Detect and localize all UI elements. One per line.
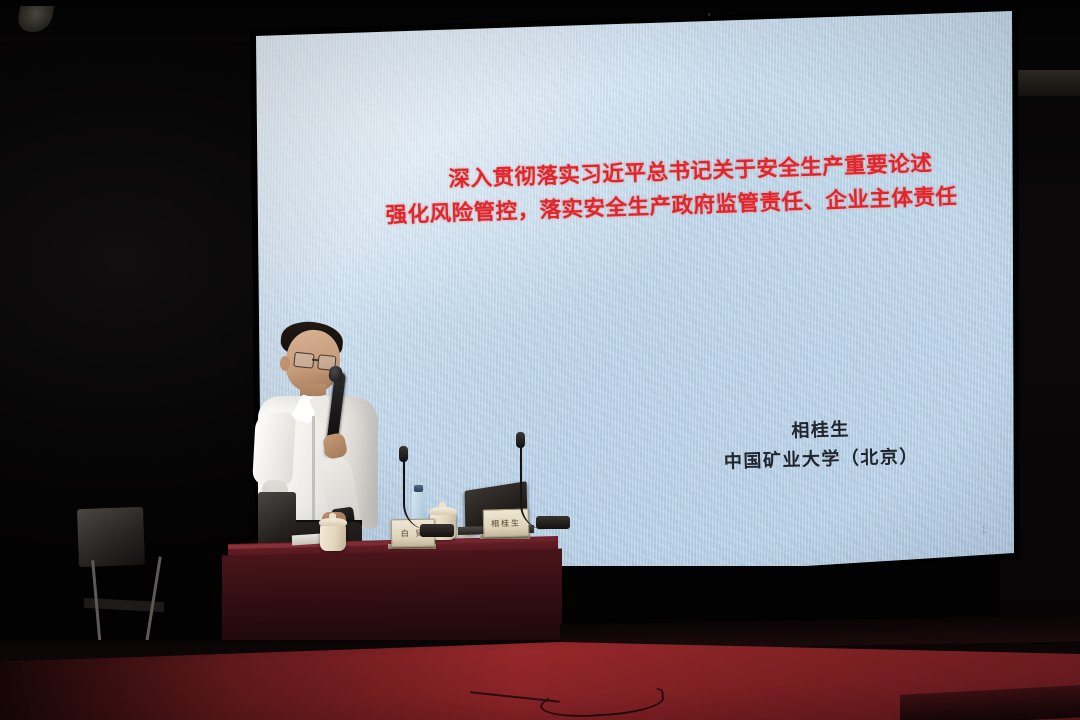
tea-cup-lid [429,507,457,515]
shirt-sleeve-left [252,411,296,487]
photo-scene: 深入贯彻落实习近平总书记关于安全生产重要论述 强化风险管控，落实安全生产政府监管… [0,0,1080,720]
tea-cup-lid [319,518,347,526]
glasses-lens-left [293,352,314,369]
chair-backrest [77,507,145,567]
tea-cup-knob [439,502,446,507]
shirt-placket [312,416,315,524]
speaker-ear [280,356,290,371]
gooseneck-microphone-base [536,516,570,529]
tea-cup [320,524,346,551]
gooseneck-microphone-head [516,432,525,448]
gooseneck-microphone [403,452,431,530]
tea-cup-knob [329,513,336,518]
gooseneck-microphone-head [399,446,408,462]
gooseneck-microphone-base [420,524,454,537]
